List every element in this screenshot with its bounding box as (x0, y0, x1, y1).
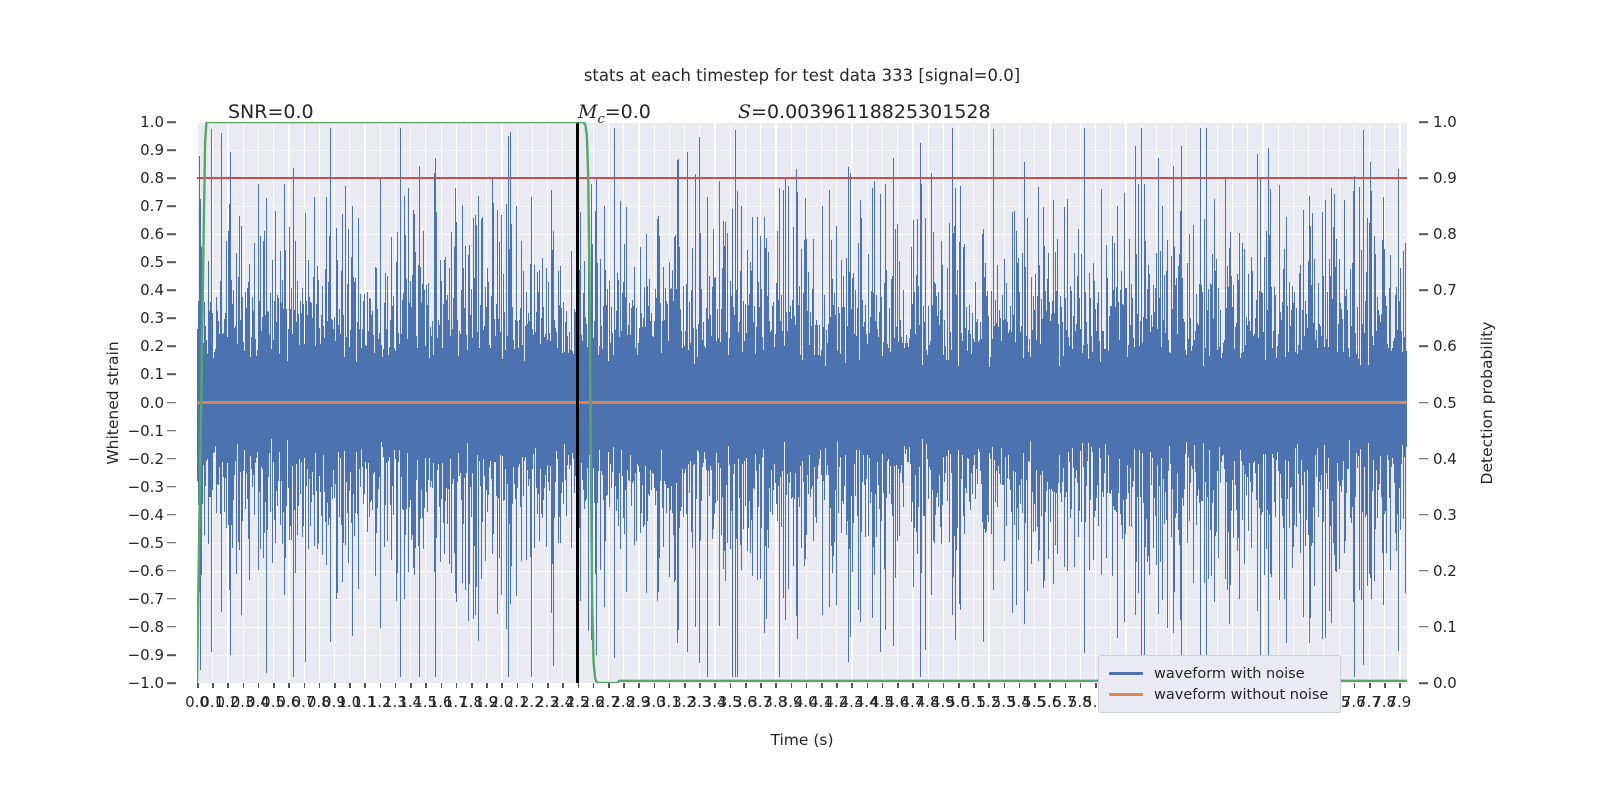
x-tick-mark (212, 683, 214, 688)
y-tick-mark-left (167, 682, 176, 684)
y-tick-label-left: 0.3 (140, 309, 164, 327)
y-tick-mark-left (167, 598, 176, 600)
y-tick-label-left: 0.8 (140, 169, 164, 187)
annotation-s-value: =0.00396118825301528 (751, 101, 991, 123)
x-tick-mark (1384, 683, 1386, 688)
y-tick-mark-left (167, 542, 176, 544)
annotation-chirp-mass: Mc=0.0 (578, 101, 651, 127)
y-tick-label-left: 0.5 (140, 253, 164, 271)
x-tick-mark (669, 683, 671, 688)
x-tick-mark (973, 683, 975, 688)
x-tick-mark (334, 683, 336, 688)
y-tick-mark-left (167, 458, 176, 460)
y-tick-label-right: 0.0 (1433, 674, 1457, 692)
y-tick-mark-left (167, 318, 176, 320)
y-tick-label-left: −0.5 (128, 534, 164, 552)
y-tick-label-right: 0.3 (1433, 506, 1457, 524)
y-tick-mark-right (1419, 290, 1428, 292)
y-tick-label-left: 0.4 (140, 281, 164, 299)
annotation-mc-value: =0.0 (605, 101, 651, 123)
y-tick-label-right: 0.6 (1433, 337, 1457, 355)
y-tick-label-right: 0.1 (1433, 618, 1457, 636)
x-tick-mark (501, 683, 503, 688)
x-tick-mark (821, 683, 823, 688)
x-tick-mark (273, 683, 275, 688)
x-tick-mark (654, 683, 656, 688)
x-tick-mark (441, 683, 443, 688)
x-tick-mark (836, 683, 838, 688)
y-tick-mark-left (167, 290, 176, 292)
y-tick-label-left: 0.6 (140, 225, 164, 243)
x-tick-mark (730, 683, 732, 688)
x-tick-mark (714, 683, 716, 688)
x-tick-mark (304, 683, 306, 688)
x-axis-label: Time (s) (197, 731, 1407, 749)
x-tick-mark (425, 683, 427, 688)
y-tick-mark-left (167, 570, 176, 572)
x-tick-mark (517, 683, 519, 688)
y-tick-label-right: 0.8 (1433, 225, 1457, 243)
x-tick-mark (410, 683, 412, 688)
x-tick-mark (958, 683, 960, 688)
x-tick-mark (1049, 683, 1051, 688)
legend-item[interactable]: waveform without noise (1109, 684, 1328, 705)
y-tick-mark-left (167, 430, 176, 432)
y-tick-label-left: −0.3 (128, 478, 164, 496)
y-tick-mark-left (167, 121, 176, 123)
y-tick-mark-right (1419, 682, 1428, 684)
x-tick-mark (562, 683, 564, 688)
x-tick-mark (243, 683, 245, 688)
y-tick-mark-right (1419, 346, 1428, 348)
y-tick-mark-left (167, 402, 176, 404)
y-tick-label-left: −0.9 (128, 646, 164, 664)
x-tick-mark (593, 683, 595, 688)
y-tick-mark-right (1419, 121, 1428, 123)
y-tick-mark-left (167, 654, 176, 656)
x-tick-mark (395, 683, 397, 688)
x-tick-mark (684, 683, 686, 688)
legend: waveform with noisewaveform without nois… (1098, 655, 1341, 713)
x-tick-mark (760, 683, 762, 688)
x-tick-mark (532, 683, 534, 688)
annotation-mc-symbol: M (578, 101, 597, 123)
y-tick-label-right: 1.0 (1433, 113, 1457, 131)
y-tick-mark-left (167, 486, 176, 488)
y-tick-label-right: 0.2 (1433, 562, 1457, 580)
x-tick-mark (745, 683, 747, 688)
y-tick-label-left: −1.0 (128, 674, 164, 692)
x-tick-mark (319, 683, 321, 688)
matplotlib-figure: stats at each timestep for test data 333… (0, 0, 1600, 800)
y-axis-left: 1.00.90.80.70.60.50.40.30.20.10.0−0.1−0.… (0, 122, 190, 683)
x-tick-mark (1065, 683, 1067, 688)
y-tick-label-left: 0.7 (140, 197, 164, 215)
annotation-snr: SNR=0.0 (228, 101, 314, 123)
x-tick-mark (1080, 683, 1082, 688)
y-tick-mark-left (167, 346, 176, 348)
annotation-s-symbol: S (738, 101, 751, 123)
x-tick-mark (258, 683, 260, 688)
x-tick-mark (380, 683, 382, 688)
y-tick-mark-left (167, 205, 176, 207)
x-tick-mark (882, 683, 884, 688)
x-tick-label: 7.9 (1387, 693, 1411, 711)
legend-swatch (1109, 693, 1143, 696)
x-tick-mark (1034, 683, 1036, 688)
y-axis-right: 1.00.90.80.70.60.50.40.30.20.10.0 (1407, 122, 1600, 683)
y-tick-mark-left (167, 177, 176, 179)
x-tick-mark (197, 683, 199, 688)
y-tick-mark-right (1419, 402, 1428, 404)
x-tick-mark (1004, 683, 1006, 688)
x-tick-mark (471, 683, 473, 688)
annotation-mc-subscript: c (597, 112, 604, 127)
x-tick-mark (928, 683, 930, 688)
x-tick-mark (988, 683, 990, 688)
y-tick-label-right: 0.9 (1433, 169, 1457, 187)
y-tick-mark-right (1419, 233, 1428, 235)
page-title: stats at each timestep for test data 333… (197, 66, 1407, 85)
x-tick-mark (456, 683, 458, 688)
y-tick-mark-left (167, 514, 176, 516)
x-tick-mark (547, 683, 549, 688)
x-tick-mark (608, 683, 610, 688)
y-tick-label-right: 0.4 (1433, 450, 1457, 468)
detection-probability-curve (197, 122, 1407, 683)
x-tick-mark (897, 683, 899, 688)
y-tick-label-left: −0.1 (128, 422, 164, 440)
y-tick-label-left: −0.2 (128, 450, 164, 468)
y-tick-label-left: −0.8 (128, 618, 164, 636)
x-tick-mark (943, 683, 945, 688)
x-tick-mark (638, 683, 640, 688)
annotation-statistic: S=0.00396118825301528 (738, 101, 991, 123)
y-axis-right-label: Detection probability (1478, 322, 1496, 485)
legend-item[interactable]: waveform with noise (1109, 663, 1328, 684)
y-tick-label-left: −0.4 (128, 506, 164, 524)
x-tick-mark (1019, 683, 1021, 688)
y-tick-label-left: −0.6 (128, 562, 164, 580)
x-tick-mark (486, 683, 488, 688)
y-tick-mark-left (167, 149, 176, 151)
x-tick-mark (806, 683, 808, 688)
y-tick-mark-right (1419, 458, 1428, 460)
y-tick-mark-right (1419, 626, 1428, 628)
y-tick-label-left: 0.2 (140, 337, 164, 355)
x-tick-mark (623, 683, 625, 688)
y-tick-mark-left (167, 261, 176, 263)
y-tick-mark-right (1419, 570, 1428, 572)
legend-label: waveform with noise (1154, 666, 1305, 682)
y-tick-mark-left (167, 374, 176, 376)
y-tick-mark-right (1419, 177, 1428, 179)
x-tick-mark (1354, 683, 1356, 688)
y-tick-label-left: 0.1 (140, 365, 164, 383)
x-tick-mark (1095, 683, 1097, 688)
x-tick-mark (912, 683, 914, 688)
x-tick-mark (1399, 683, 1401, 688)
x-tick-mark (851, 683, 853, 688)
legend-label: waveform without noise (1154, 687, 1328, 703)
y-tick-label-left: 0.9 (140, 141, 164, 159)
y-tick-mark-right (1419, 514, 1428, 516)
y-tick-mark-left (167, 233, 176, 235)
y-tick-mark-left (167, 626, 176, 628)
y-tick-label-left: 0.0 (140, 394, 164, 412)
x-tick-mark (227, 683, 229, 688)
x-tick-mark (791, 683, 793, 688)
x-tick-mark (578, 683, 580, 688)
x-tick-mark (288, 683, 290, 688)
x-tick-mark (364, 683, 366, 688)
y-tick-label-left: 1.0 (140, 113, 164, 131)
y-tick-label-right: 0.7 (1433, 281, 1457, 299)
y-axis-left-label: Whitened strain (104, 341, 122, 464)
legend-swatch (1109, 672, 1143, 675)
y-tick-label-right: 0.5 (1433, 394, 1457, 412)
x-tick-mark (699, 683, 701, 688)
y-tick-label-left: −0.7 (128, 590, 164, 608)
x-tick-mark (1369, 683, 1371, 688)
plot-area (197, 122, 1407, 683)
x-tick-mark (775, 683, 777, 688)
x-tick-mark (349, 683, 351, 688)
x-tick-mark (867, 683, 869, 688)
